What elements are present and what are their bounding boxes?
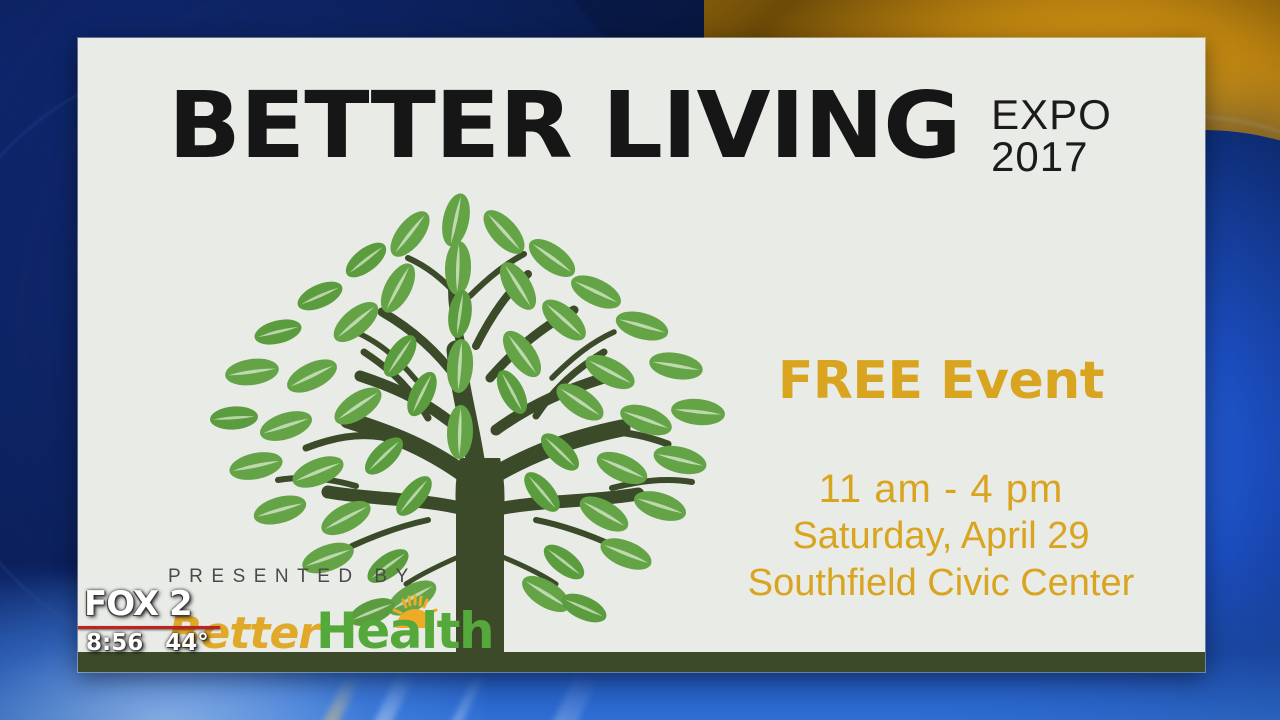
event-venue: Southfield Civic Center [721, 560, 1161, 606]
poster-headline: BETTER LIVING EXPO 2017 [168, 82, 1112, 178]
headline-word-better: BETTER [168, 82, 572, 170]
headline-expo: EXPO [991, 94, 1112, 136]
headline-year: 2017 [991, 136, 1112, 178]
station-bug: FOX 2 8:56 44° [78, 584, 228, 658]
station-bug-rule [78, 626, 220, 629]
ground-bar [78, 652, 1205, 672]
event-date: Saturday, April 29 [721, 513, 1161, 559]
station-logo: FOX 2 [84, 584, 192, 624]
headline-expo-block: EXPO 2017 [991, 94, 1112, 178]
free-event-headline: FREE Event [721, 354, 1161, 409]
event-poster-card: BETTER LIVING EXPO 2017 [78, 38, 1205, 672]
event-details: FREE Event 11 am - 4 pm Saturday, April … [721, 354, 1161, 606]
event-time: 11 am - 4 pm [721, 465, 1161, 514]
event-detail-lines: 11 am - 4 pm Saturday, April 29 Southfie… [721, 465, 1161, 607]
station-bug-info: 8:56 44° [86, 630, 209, 656]
clock-time: 8:56 [86, 630, 143, 656]
temperature-readout: 44° [165, 630, 209, 656]
broadcast-screen: BETTER LIVING EXPO 2017 [0, 0, 1280, 720]
headline-word-living: LIVING [602, 82, 961, 170]
